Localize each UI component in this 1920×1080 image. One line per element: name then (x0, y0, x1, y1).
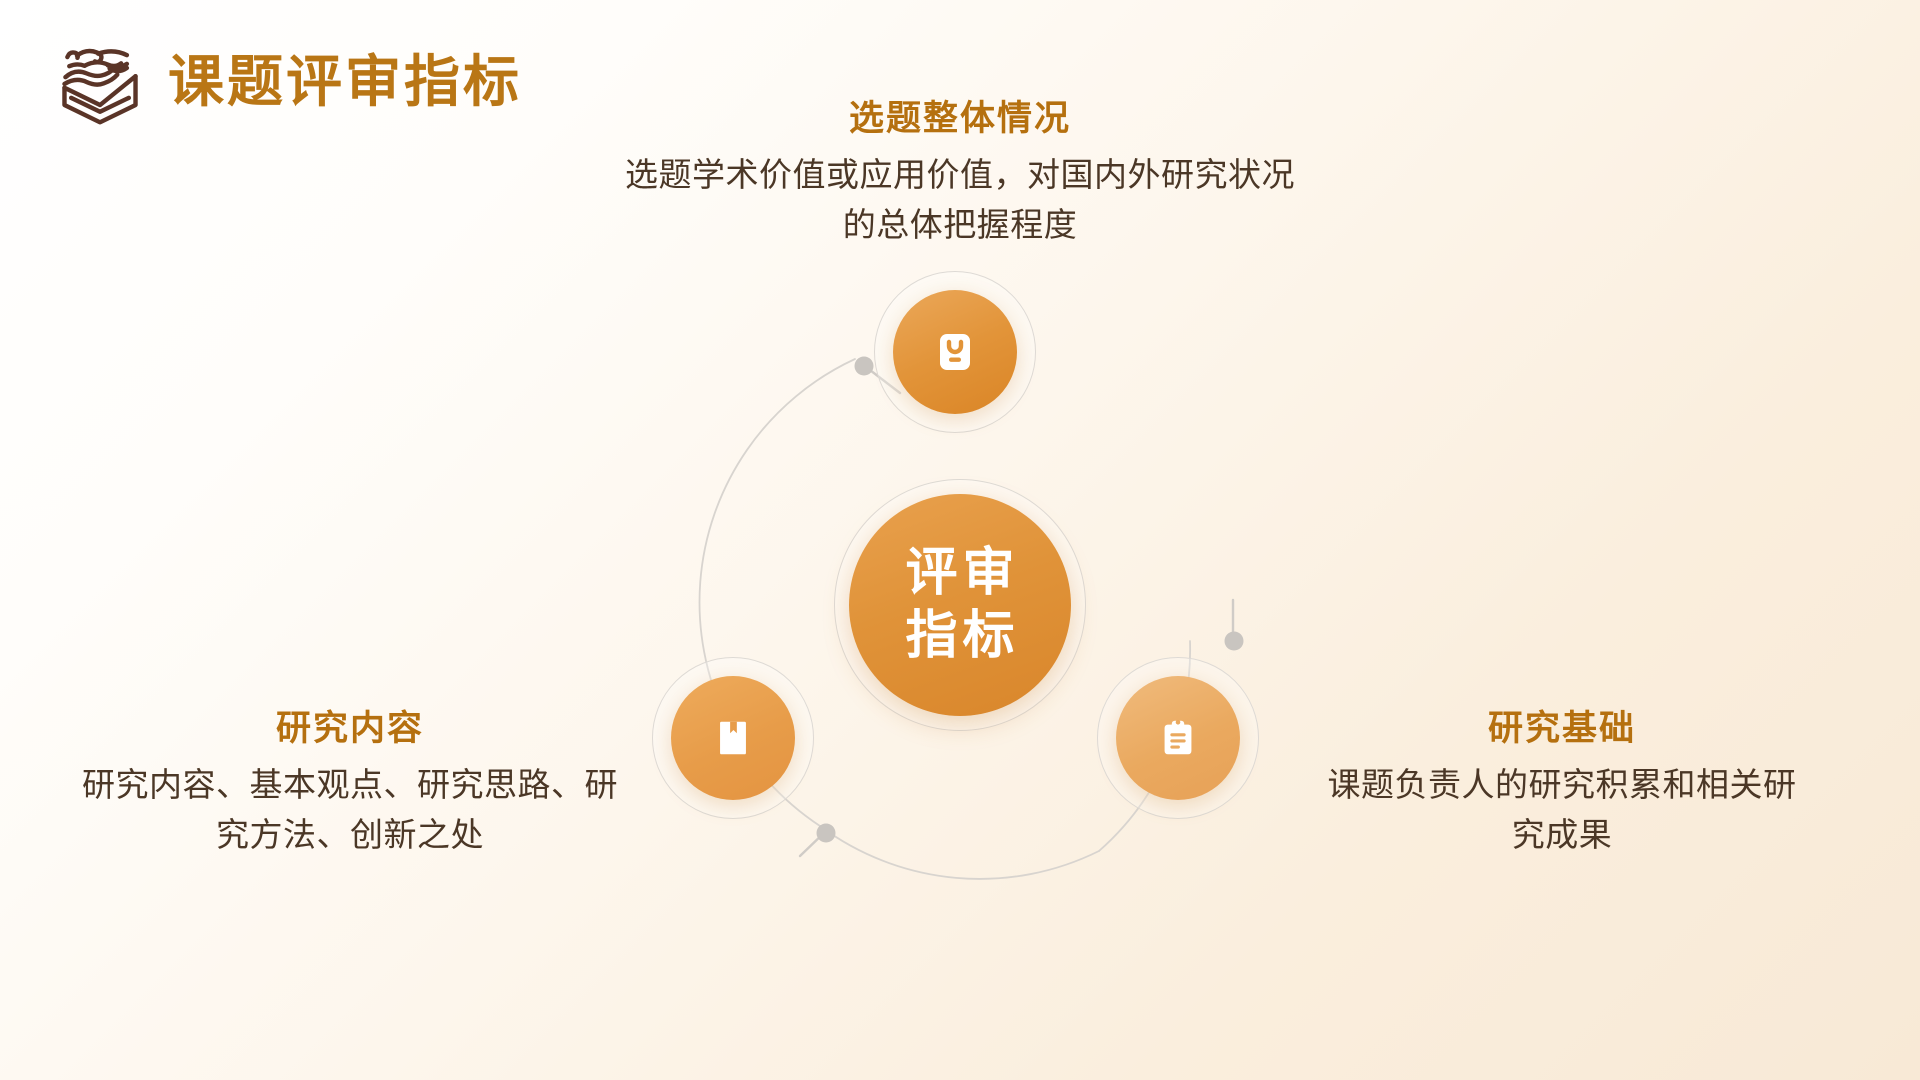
center-hub-line-2: 指标 (900, 605, 1019, 668)
certificate-document-icon (931, 328, 979, 376)
node-title-top: 选题整体情况 (560, 96, 1360, 142)
text-block-right: 研究基础 课题负责人的研究积累和相关研究成果 (1282, 706, 1842, 861)
node-body-top: 选题学术价值或应用价值，对国内外研究状况的总体把握程度 (615, 151, 1305, 251)
evaluation-criteria-diagram: 评审 指标 (0, 0, 1920, 1080)
node-body-left: 研究内容、基本观点、研究思路、研究方法、创新之处 (80, 761, 620, 861)
node-right[interactable] (1116, 676, 1240, 800)
connector-dot-top (855, 357, 874, 376)
connector-dot-left (817, 824, 836, 843)
center-hub[interactable]: 评审 指标 (849, 494, 1071, 716)
center-hub-line-1: 评审 (900, 542, 1019, 605)
node-title-left: 研究内容 (60, 706, 640, 752)
node-top[interactable] (893, 290, 1017, 414)
node-body-right: 课题负责人的研究积累和相关研究成果 (1327, 761, 1797, 861)
clipboard-list-icon (1155, 715, 1201, 761)
slide-canvas: 课题评审指标 (0, 0, 1920, 1080)
connector-dot-right (1225, 632, 1244, 651)
text-block-top: 选题整体情况 选题学术价值或应用价值，对国内外研究状况的总体把握程度 (560, 96, 1360, 251)
text-block-left: 研究内容 研究内容、基本观点、研究思路、研究方法、创新之处 (60, 706, 640, 861)
node-title-right: 研究基础 (1282, 706, 1842, 752)
bookmark-book-icon (710, 715, 756, 761)
node-left[interactable] (671, 676, 795, 800)
